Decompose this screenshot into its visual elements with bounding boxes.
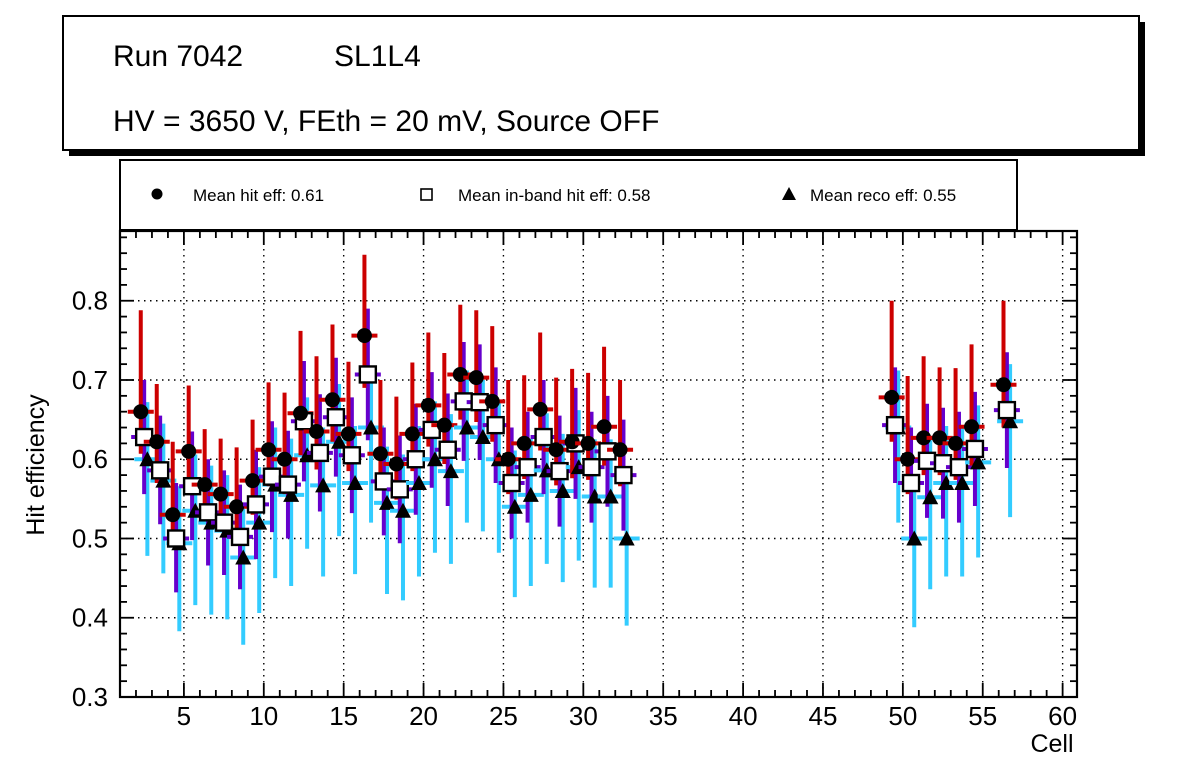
marker-inband-square <box>887 417 903 433</box>
marker-inband-square <box>488 417 504 433</box>
marker-inband-square <box>376 473 392 489</box>
marker-hit-circle <box>501 452 516 467</box>
x-axis-label: Cell <box>1030 730 1073 758</box>
x-tick-label: 40 <box>729 701 758 731</box>
marker-inband-square <box>951 459 967 475</box>
marker-hit-circle <box>964 419 979 434</box>
x-tick-label: 50 <box>888 701 917 731</box>
x-tick-label: 35 <box>649 701 678 731</box>
marker-hit-circle <box>373 446 388 461</box>
marker-hit-circle <box>181 444 196 459</box>
marker-hit-circle <box>357 328 372 343</box>
marker-hit-circle <box>389 457 404 472</box>
marker-hit-circle <box>213 487 228 502</box>
marker-inband-square <box>504 475 520 491</box>
marker-hit-circle <box>341 426 356 441</box>
marker-inband-square <box>440 442 456 458</box>
x-tick-label: 15 <box>329 701 358 731</box>
marker-hit-circle <box>197 477 212 492</box>
marker-hit-circle <box>900 452 915 467</box>
title-run-label: Run 7042 <box>113 40 243 73</box>
marker-hit-circle <box>325 392 340 407</box>
marker-inband-square <box>520 459 536 475</box>
marker-hit-circle <box>581 436 596 451</box>
marker-hit-circle <box>261 442 276 457</box>
marker-hit-circle <box>293 406 308 421</box>
marker-hit-circle <box>277 452 292 467</box>
marker-hit-circle <box>469 370 484 385</box>
title-superlayer-label: SL1L4 <box>334 40 421 73</box>
y-tick-label: 0.3 <box>72 682 108 712</box>
x-tick-label: 30 <box>569 701 598 731</box>
marker-inband-square <box>408 451 424 467</box>
marker-inband-square <box>264 469 280 485</box>
marker-inband-square <box>584 459 600 475</box>
marker-hit-circle <box>149 434 164 449</box>
plot-canvas: 510152025303540455055600.30.40.50.60.70.… <box>0 0 1196 772</box>
marker-inband-square <box>392 481 408 497</box>
marker-inband-square <box>344 447 360 463</box>
y-tick-label: 0.7 <box>72 365 108 395</box>
marker-hit-circle <box>613 442 628 457</box>
marker-hit-circle <box>453 367 468 382</box>
marker-hit-circle <box>549 442 564 457</box>
marker-inband-square <box>232 529 248 545</box>
marker-hit-circle <box>229 499 244 514</box>
marker-inband-square <box>152 462 168 478</box>
marker-hit-circle <box>996 377 1011 392</box>
marker-inband-square <box>168 530 184 546</box>
marker-inband-square <box>216 515 232 531</box>
marker-hit-circle <box>165 507 180 522</box>
marker-inband-square <box>919 453 935 469</box>
legend-label-inband-eff: Mean in-band hit eff: 0.58 <box>458 186 651 205</box>
marker-hit-circle <box>533 402 548 417</box>
legend-box: Mean hit eff: 0.61 Mean in-band hit eff:… <box>120 160 1017 230</box>
y-tick-label: 0.6 <box>72 444 108 474</box>
marker-hit-circle <box>597 419 612 434</box>
x-tick-label: 55 <box>968 701 997 731</box>
marker-inband-square <box>903 475 919 491</box>
marker-inband-square <box>280 477 296 493</box>
marker-hit-circle <box>485 394 500 409</box>
marker-hit-circle <box>437 418 452 433</box>
y-tick-label: 0.5 <box>72 523 108 553</box>
marker-hit-circle <box>884 390 899 405</box>
marker-inband-square <box>248 496 264 512</box>
title-conditions-label: HV = 3650 V, FEth = 20 mV, Source OFF <box>113 105 659 138</box>
marker-hit-circle <box>133 404 148 419</box>
y-axis-label: Hit efficiency <box>22 394 50 536</box>
marker-inband-square <box>967 441 983 457</box>
x-tick-label: 45 <box>809 701 838 731</box>
marker-hit-circle <box>517 436 532 451</box>
x-tick-label: 25 <box>489 701 518 731</box>
marker-inband-square <box>552 463 568 479</box>
marker-inband-square <box>200 504 216 520</box>
efficiency-scatter-plot: 510152025303540455055600.30.40.50.60.70.… <box>0 0 1196 772</box>
marker-hit-circle <box>245 473 260 488</box>
x-tick-label: 10 <box>249 701 278 731</box>
y-tick-label: 0.8 <box>72 286 108 316</box>
legend-label-hit-eff: Mean hit eff: 0.61 <box>193 186 324 205</box>
x-tick-label: 20 <box>409 701 438 731</box>
marker-inband-square <box>360 366 376 382</box>
legend-label-reco-eff: Mean reco eff: 0.55 <box>810 186 956 205</box>
marker-inband-square <box>999 402 1015 418</box>
y-tick-label: 0.4 <box>72 603 108 633</box>
title-box: Run 7042 SL1L4 HV = 3650 V, FEth = 20 mV… <box>63 16 1145 156</box>
marker-hit-circle <box>405 426 420 441</box>
marker-hit-circle <box>948 436 963 451</box>
marker-hit-circle <box>309 424 324 439</box>
marker-inband-square <box>312 445 328 461</box>
marker-hit-circle <box>421 398 436 413</box>
marker-inband-square <box>536 429 552 445</box>
filled-circle-icon <box>152 189 163 200</box>
marker-inband-square <box>615 467 631 483</box>
x-tick-label: 60 <box>1048 701 1077 731</box>
x-tick-label: 5 <box>177 701 191 731</box>
marker-inband-square <box>328 409 344 425</box>
